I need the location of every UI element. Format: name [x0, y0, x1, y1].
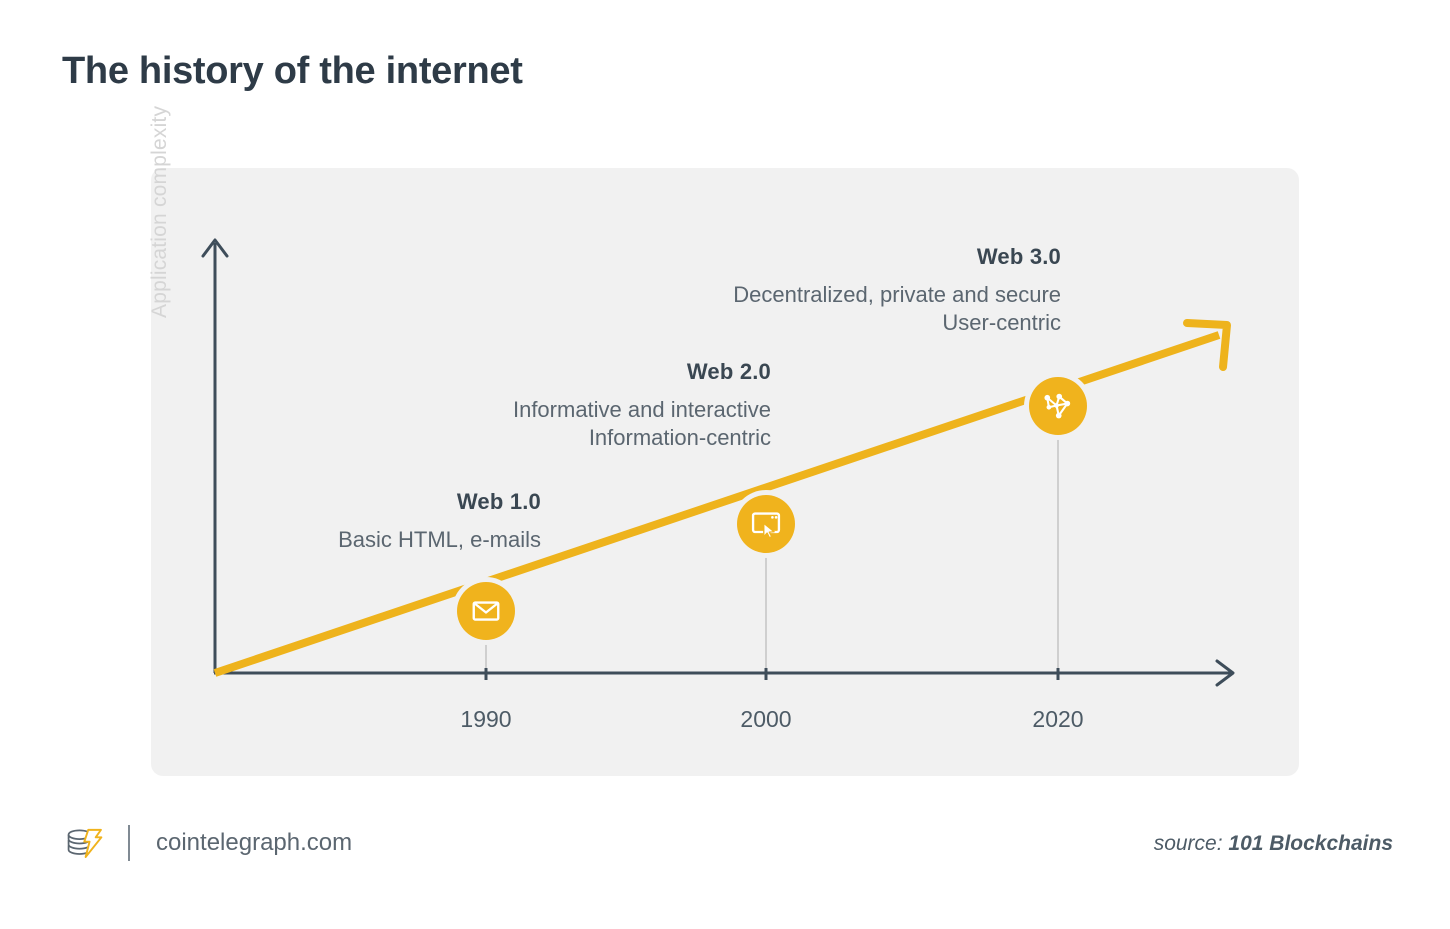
- x-tick-label-2000: 2000: [706, 706, 826, 733]
- stage-web1-title: Web 1.0: [191, 488, 541, 517]
- stage-web3-title: Web 3.0: [571, 243, 1061, 272]
- x-tick-label-2020: 2020: [998, 706, 1118, 733]
- footer: cointelegraph.com source: 101 Blockchain…: [0, 812, 1450, 892]
- milestone-node-web3[interactable]: [1029, 377, 1087, 435]
- stage-block-web1: Web 1.0 Basic HTML, e-mails: [191, 488, 541, 554]
- brand-block[interactable]: cointelegraph.com: [62, 822, 352, 864]
- chart-panel: Application complexity Web 1.0: [151, 168, 1299, 776]
- infographic-page: The history of the internet Application …: [0, 0, 1450, 929]
- source-credit: source: 101 Blockchains: [1154, 832, 1393, 856]
- stage-web3-line1: Decentralized, private and secure: [571, 281, 1061, 310]
- milestone-node-web1[interactable]: [457, 582, 515, 640]
- x-tick-label-1990: 1990: [426, 706, 546, 733]
- milestone-node-web2[interactable]: [737, 495, 795, 553]
- network-nodes-icon: [1042, 390, 1074, 422]
- stage-block-web3: Web 3.0 Decentralized, private and secur…: [571, 243, 1061, 338]
- page-title: The history of the internet: [62, 50, 523, 93]
- source-prefix: source:: [1154, 832, 1223, 855]
- brand-divider: [128, 825, 130, 861]
- browser-cursor-icon: [750, 508, 782, 540]
- cointelegraph-logo-icon: [62, 822, 104, 864]
- stage-web3-line2: User-centric: [571, 309, 1061, 338]
- envelope-icon: [471, 596, 501, 626]
- stage-web2-line2: Information-centric: [371, 424, 771, 453]
- stage-web2-title: Web 2.0: [371, 358, 771, 387]
- stage-web1-line1: Basic HTML, e-mails: [191, 526, 541, 555]
- source-name: 101 Blockchains: [1228, 832, 1393, 855]
- brand-url[interactable]: cointelegraph.com: [156, 829, 352, 857]
- stage-block-web2: Web 2.0 Informative and interactive Info…: [371, 358, 771, 453]
- stage-web2-line1: Informative and interactive: [371, 396, 771, 425]
